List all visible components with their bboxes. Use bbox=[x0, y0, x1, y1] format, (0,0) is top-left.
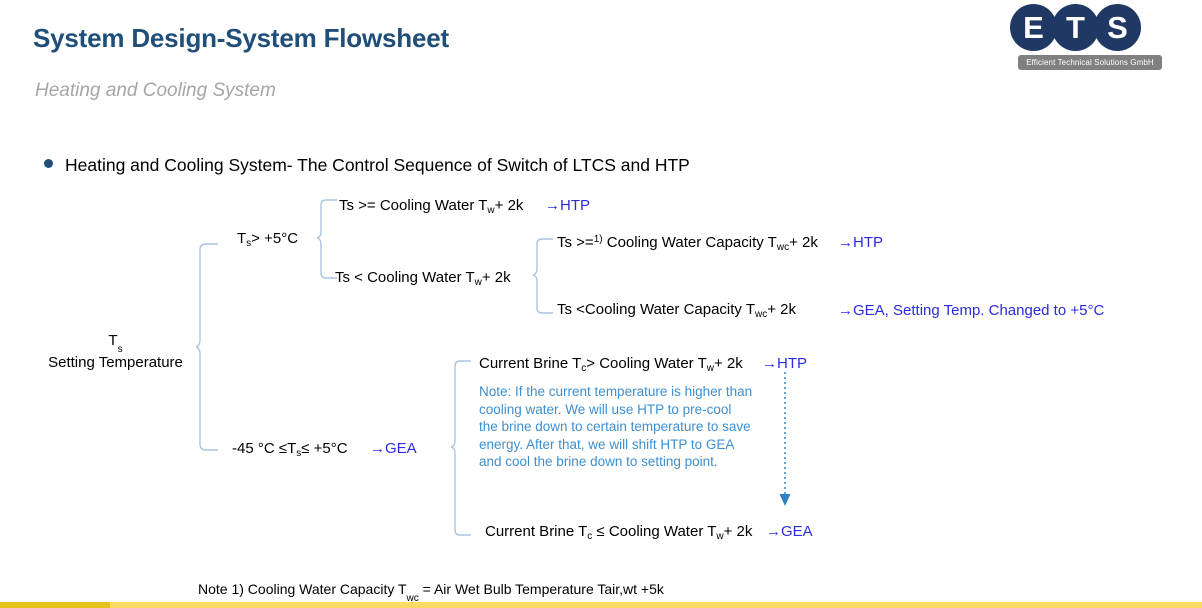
result-htp-2: →HTP bbox=[838, 234, 883, 253]
root-node-label: Setting Temperature bbox=[28, 353, 203, 373]
node-ts-gt-5c-main: > +5°C bbox=[251, 230, 298, 247]
node-ts-range-sub: s bbox=[296, 448, 301, 459]
result-htp-3: →HTP bbox=[762, 355, 807, 374]
node-ts-lt-capacity: Ts <Cooling Water Capacity Twc+ 2k bbox=[557, 301, 796, 320]
result-gea-setting-temp: →GEA, Setting Temp. Changed to +5°C bbox=[838, 302, 1104, 321]
node-current-brine-gt-sub: c bbox=[581, 363, 586, 374]
node-ts-ge-capacity-sub: wc bbox=[777, 242, 789, 253]
node-current-brine-le: Current Brine Tc ≤ Cooling Water Tw+ 2k bbox=[485, 523, 752, 542]
node-ts-ge-cooling-water: Ts >= Cooling Water Tw+ 2k bbox=[339, 197, 523, 216]
node-ts-gt-5c-sub: s bbox=[246, 238, 251, 249]
slide-canvas: System Design-System Flowsheet Heating a… bbox=[0, 0, 1202, 608]
logo-tagline: Efficient Technical Solutions GmbH bbox=[1018, 55, 1162, 70]
result-htp-1: →HTP bbox=[545, 197, 590, 216]
root-node-symbol: Ts bbox=[28, 331, 203, 353]
node-ts-lt-cooling-water: Ts < Cooling Water Tw+ 2k bbox=[335, 269, 511, 288]
result-gea-bottom: →GEA bbox=[766, 523, 813, 542]
bottom-accent-bar-left bbox=[0, 602, 110, 608]
bracket-root bbox=[196, 243, 222, 451]
page-title: System Design-System Flowsheet bbox=[33, 23, 449, 54]
bracket-high-branch bbox=[317, 199, 339, 279]
bracket-mid-branch bbox=[451, 360, 473, 536]
footnote-note1: Note 1) Cooling Water Capacity Twc = Air… bbox=[198, 581, 664, 601]
note-line-4: energy. After that, we will shift HTP to… bbox=[479, 436, 779, 454]
node-current-brine-le-sub2: w bbox=[716, 531, 723, 542]
node-ts-gt-5c: Ts> +5°C bbox=[237, 230, 298, 249]
bullet-heading-text: Heating and Cooling System- The Control … bbox=[65, 155, 690, 176]
node-ts-lt-cw-sub: w bbox=[475, 277, 482, 288]
note-line-2: cooling water. We will use HTP to pre-co… bbox=[479, 401, 779, 419]
bracket-capacity-branch bbox=[533, 238, 555, 314]
logo-circle-e: E bbox=[1010, 4, 1057, 51]
page-subtitle: Heating and Cooling System bbox=[35, 80, 276, 102]
node-ts-ge-capacity: Ts >=1) Cooling Water Capacity Twc+ 2k bbox=[557, 234, 818, 253]
node-ts-lt-capacity-sub: wc bbox=[755, 309, 767, 320]
node-ts-range: -45 °C ≤Ts≤ +5°C bbox=[232, 440, 348, 459]
node-current-brine-gt: Current Brine Tc> Cooling Water Tw+ 2k bbox=[479, 355, 743, 374]
node-ts-ge-capacity-footnote-ref: 1) bbox=[594, 234, 603, 245]
result-gea-mid: →GEA bbox=[370, 440, 417, 459]
note-callout: Note: If the current temperature is high… bbox=[479, 383, 779, 471]
dotted-flow-arrow bbox=[778, 372, 792, 508]
bullet-heading: Heating and Cooling System- The Control … bbox=[44, 155, 690, 176]
ets-logo: E T S Efficient Technical Solutions GmbH bbox=[1010, 4, 1186, 70]
node-current-brine-le-sub: c bbox=[587, 531, 592, 542]
note-line-3: the brine down to certain temperature to… bbox=[479, 418, 779, 436]
note-line-5: and cool the brine down to setting point… bbox=[479, 453, 779, 471]
note-line-1: Note: If the current temperature is high… bbox=[479, 383, 779, 401]
bullet-dot-icon bbox=[44, 159, 53, 168]
logo-letter-circles: E T S bbox=[1010, 4, 1141, 51]
logo-circle-s: S bbox=[1094, 4, 1141, 51]
bottom-accent-bar-right bbox=[110, 602, 1202, 608]
logo-circle-t: T bbox=[1052, 4, 1099, 51]
node-ts-ge-cw-sub: w bbox=[487, 205, 494, 216]
node-current-brine-gt-sub2: w bbox=[707, 363, 714, 374]
root-node-setting-temperature: Ts Setting Temperature bbox=[28, 331, 203, 373]
root-node-symbol-sub: s bbox=[118, 344, 123, 355]
